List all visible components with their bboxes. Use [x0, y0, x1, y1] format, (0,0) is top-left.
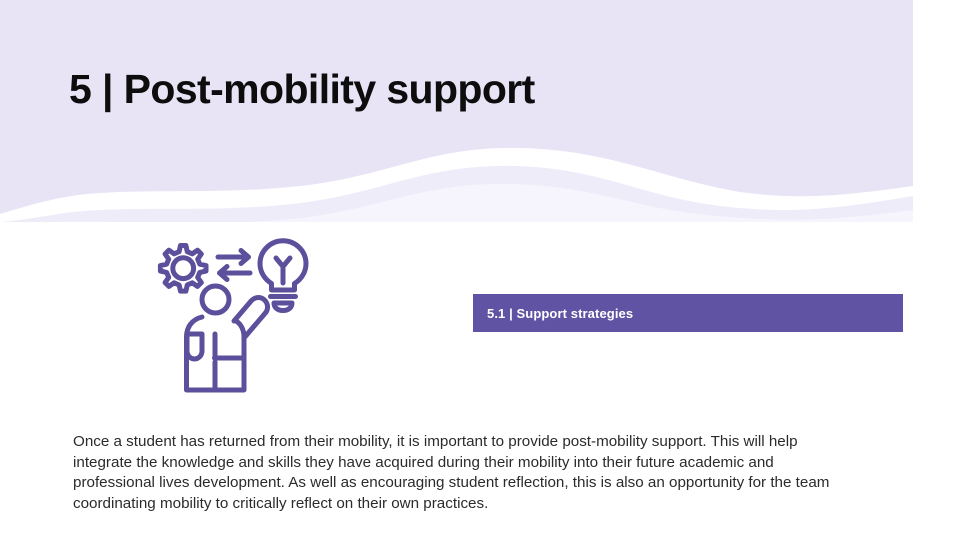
gear-icon [160, 246, 206, 292]
presentation-slide: 5 | Post-mobility support [0, 0, 960, 540]
slide-title: 5 | Post-mobility support [69, 66, 535, 113]
knowledge-transfer-illustration [148, 238, 320, 398]
person-raising-hand-icon [187, 286, 268, 390]
illustration-svg [148, 238, 320, 398]
exchange-arrows-icon [218, 251, 250, 280]
section-bar: 5.1 | Support strategies [473, 294, 903, 332]
body-paragraph: Once a student has returned from their m… [73, 432, 838, 514]
section-bar-label: 5.1 | Support strategies [473, 306, 633, 321]
